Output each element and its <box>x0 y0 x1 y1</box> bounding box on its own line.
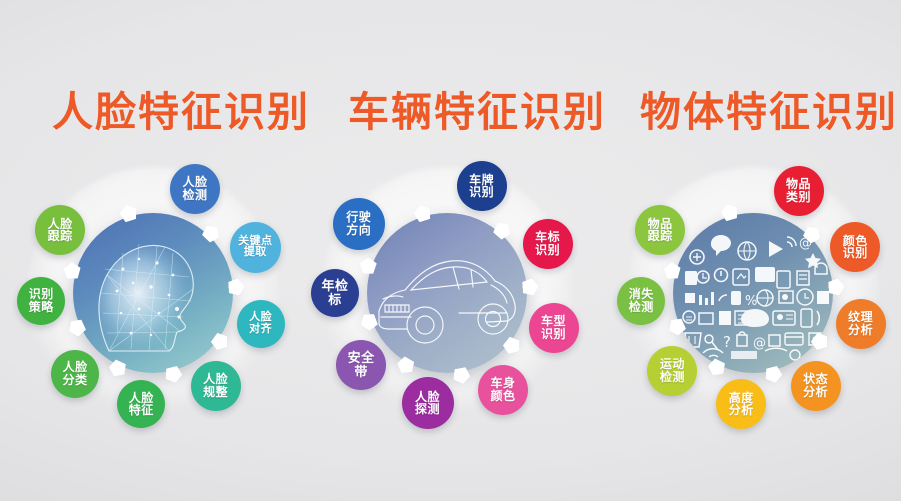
infographic-canvas: 人脸特征识别 车辆特征识别 物体特征识别 <box>0 0 901 501</box>
cluster-title-face: 人脸特征识别 <box>52 78 310 138</box>
bubble-object-5[interactable]: 运动检测 <box>647 346 697 396</box>
bubble-label: 人脸规整 <box>201 373 230 398</box>
bubble-label: 高度分析 <box>727 392 756 417</box>
bubble-vehicle-3[interactable]: 车身颜色 <box>478 365 528 415</box>
bubble-label: 物品类别 <box>784 178 813 203</box>
bubble-object-6[interactable]: 消失检测 <box>617 277 665 325</box>
bubble-vehicle-5[interactable]: 安全带 <box>336 340 386 390</box>
bubble-label: 纹理分析 <box>846 311 875 336</box>
bubble-vehicle-0[interactable]: 车牌识别 <box>457 161 507 211</box>
bubble-vehicle-6[interactable]: 年检标 <box>311 269 359 317</box>
bubble-label: 消失检测 <box>627 288 656 313</box>
bubble-label: 状态分析 <box>801 373 830 398</box>
bubble-vehicle-1[interactable]: 车标识别 <box>523 219 573 269</box>
cluster-face: 人脸检测关键点提取人脸对齐人脸规整人脸特征人脸分类识别策略人脸跟踪 <box>8 148 298 438</box>
cluster-object: @ % <box>608 148 898 438</box>
bubble-face-6[interactable]: 识别策略 <box>17 277 65 325</box>
svg-text:%: % <box>745 294 757 309</box>
bubble-label: 物品跟踪 <box>646 218 675 243</box>
bubble-label: 车牌识别 <box>467 174 496 199</box>
bubble-label: 识别策略 <box>27 288 56 313</box>
bubble-vehicle-2[interactable]: 车型识别 <box>529 303 579 353</box>
bubble-label: 行驶方向 <box>344 211 373 236</box>
cluster-vehicle: 车牌识别车标识别车型识别车身颜色人脸探测安全带年检标行驶方向 <box>302 148 592 438</box>
bubble-object-2[interactable]: 纹理分析 <box>836 299 886 349</box>
svg-text:@: @ <box>753 336 766 351</box>
bubble-label: 人脸分类 <box>61 361 90 386</box>
bubble-label: 运动检测 <box>658 358 687 383</box>
bubble-object-4[interactable]: 高度分析 <box>716 379 766 429</box>
bubble-vehicle-4[interactable]: 人脸探测 <box>402 377 454 429</box>
bubble-face-4[interactable]: 人脸特征 <box>117 380 165 428</box>
bubble-label: 颜色识别 <box>841 235 870 260</box>
cluster-title-vehicle: 车辆特征识别 <box>348 78 606 138</box>
bubble-label: 人脸探测 <box>413 391 442 416</box>
bubble-vehicle-7[interactable]: 行驶方向 <box>333 198 385 250</box>
bubble-face-2[interactable]: 人脸对齐 <box>237 300 285 348</box>
bubble-label: 关键点提取 <box>236 236 275 259</box>
bubble-label: 安全带 <box>346 351 377 379</box>
bubble-label: 人脸检测 <box>180 176 209 201</box>
bubble-face-1[interactable]: 关键点提取 <box>230 222 281 273</box>
bubble-label: 人脸特征 <box>127 392 156 417</box>
bubble-face-5[interactable]: 人脸分类 <box>51 350 99 398</box>
bubble-label: 车身颜色 <box>488 377 517 402</box>
bubble-object-3[interactable]: 状态分析 <box>791 361 841 411</box>
bubble-label: 人脸跟踪 <box>46 218 75 243</box>
cluster-title-object: 物体特征识别 <box>640 78 898 138</box>
bubble-label: 车标识别 <box>533 231 562 256</box>
bubble-face-3[interactable]: 人脸规整 <box>191 361 241 411</box>
svg-text:?: ? <box>723 333 731 351</box>
bubble-label: 人脸对齐 <box>247 312 274 335</box>
bubble-label: 车型识别 <box>539 315 568 340</box>
bubble-object-0[interactable]: 物品类别 <box>774 166 824 216</box>
bubble-face-0[interactable]: 人脸检测 <box>170 164 220 214</box>
bubble-label: 年检标 <box>319 279 350 307</box>
